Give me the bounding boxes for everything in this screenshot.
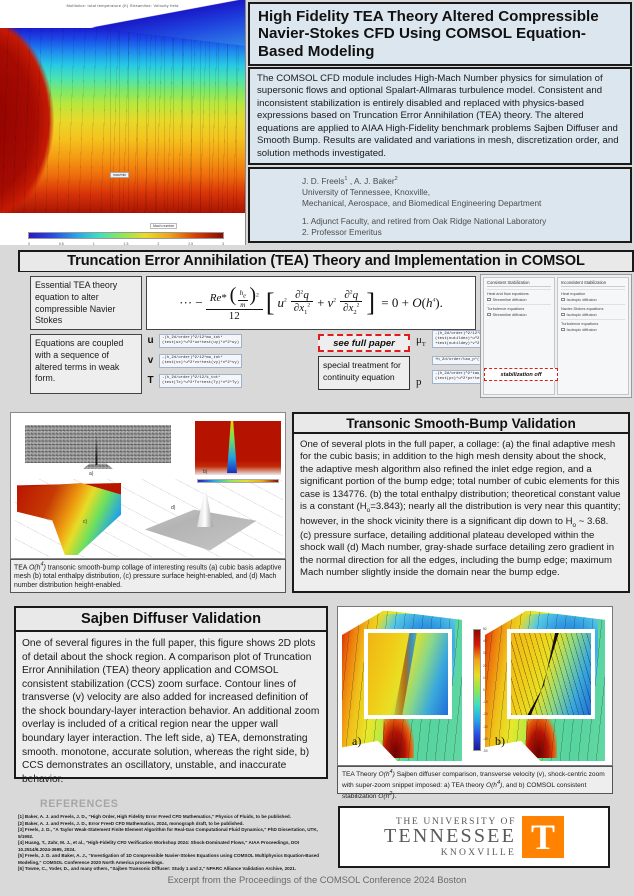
inconsistent-stabilization-column[interactable]: Inconsistent Stabilization Heat equation… xyxy=(557,277,629,395)
checkbox-isotropic-diffusion-heat[interactable]: Isotropic diffusion xyxy=(561,297,625,302)
affiliation-line-2: Mechanical, Aerospace, and Biomedical En… xyxy=(302,198,620,209)
stabilization-off-callout: stabilization off xyxy=(484,368,558,381)
checkbox-label: Isotropic diffusion xyxy=(567,312,597,317)
checkbox-icon[interactable] xyxy=(487,298,491,302)
weak-row-code: -(h_2d/order)^2/12*mu_tot* (test(ux)*u^2… xyxy=(159,334,242,348)
reference-item: [5] Freels, J. D. and Baker, A. J., "Inv… xyxy=(18,853,330,866)
sajben-b-oscillation-lines xyxy=(511,633,592,715)
checkbox-icon[interactable] xyxy=(487,313,491,317)
cfd-vertical-lines xyxy=(110,30,246,210)
poster-title-panel: High Fidelity TEA Theory Altered Compres… xyxy=(248,2,632,66)
sajben-a-smooth-shock xyxy=(390,633,427,715)
cfd-tick: 2 xyxy=(157,242,159,245)
bump-subfigure-label-a: a) xyxy=(89,471,93,477)
tea-text-box-2: Equations are coupled with a sequence of… xyxy=(30,334,142,394)
authors-panel: J. D. Freels1 , A. J. Baker2 University … xyxy=(248,167,632,243)
cfd-colorbar-ticks: 0 0.5 1 1.5 2 2.5 3 xyxy=(28,242,224,245)
footnote-2: 2. Professor Emeritus xyxy=(302,227,620,238)
bump-enthalpy-image xyxy=(195,421,281,475)
affiliation-line-1: University of Tennessee, Knoxville, xyxy=(302,187,620,198)
references-list: [1] Baker, A. J. and Freels, J. D., "Hig… xyxy=(18,814,330,873)
page-title: High Fidelity TEA Theory Altered Compres… xyxy=(258,8,622,61)
cfd-tick: 2.5 xyxy=(188,242,193,245)
university-logo: THE UNIVERSITY OF TENNESSEE KNOXVILLE T xyxy=(338,806,610,868)
caption-part: TEA xyxy=(14,564,29,571)
reference-item: [6] Towne, C., Yoder, D., and many other… xyxy=(18,866,330,873)
continuity-note-box: special treatment for continuity equatio… xyxy=(318,356,410,390)
checkbox-label: Streamline diffusion xyxy=(493,312,527,317)
authors-line: J. D. Freels1 , A. J. Baker2 xyxy=(302,176,620,187)
poster-footer: Excerpt from the Proceedings of the COMS… xyxy=(0,874,634,885)
sajben-panel-a-label: a) xyxy=(352,734,361,749)
weak-row-label: u xyxy=(146,335,155,346)
sajben-panel-b: b) xyxy=(485,611,605,761)
saj-cap-part: TEA Theory xyxy=(342,771,379,778)
saj-cap-line-3-pre: a) TEA theory xyxy=(444,782,486,789)
bump-subfigure-label-b: b) xyxy=(203,469,207,475)
see-full-paper-callout: see full paper xyxy=(318,334,410,352)
spacer xyxy=(302,209,620,216)
logo-line-2: TENNESSEE xyxy=(384,827,516,847)
sajben-colorbar xyxy=(473,629,481,751)
sajben-tick: -30 xyxy=(483,725,488,729)
bump-pressure-peak xyxy=(17,483,121,555)
cfd-inline-label: max/min xyxy=(110,172,129,178)
tea-equation: ··· − Re* (hem)2 12 [ u2 ∂2q∂x12 + v2 ∂2… xyxy=(179,284,443,321)
sajben-tick: -50 xyxy=(483,749,488,753)
footnote-1: 1. Adjunct Faculty, and retired from Oak… xyxy=(302,216,620,227)
weak-row-label: T xyxy=(146,375,155,386)
sajben-figure-caption: TEA Theory O(h4) Sajben diffuser compari… xyxy=(337,766,613,794)
bump-adaptive-mesh-image xyxy=(25,425,171,469)
cfd-tick: 3 xyxy=(222,242,224,245)
sajben-tick: 0 xyxy=(483,688,488,692)
ui-group-label: Navier-Stokes equations xyxy=(561,304,625,311)
checkbox-streamline-diffusion-flow[interactable]: Streamline diffusion xyxy=(487,297,551,302)
cfd-tick: 1 xyxy=(93,242,95,245)
references-heading: REFERENCES xyxy=(40,798,330,810)
cfd-tick: 0 xyxy=(28,242,30,245)
ui-group-label: Heat and flow equations xyxy=(487,289,551,296)
consistent-stabilization-title: Consistent Stabilization xyxy=(487,280,551,287)
saj-cap-order: O(h xyxy=(379,771,390,778)
checkbox-isotropic-diffusion-turb[interactable]: Isotropic diffusion xyxy=(561,327,625,332)
equation-fraction: Re* (hem)2 12 xyxy=(206,284,263,321)
references-section: REFERENCES [1] Baker, A. J. and Freels, … xyxy=(18,798,330,873)
ui-group-label: Turbulence equations xyxy=(487,304,551,311)
cfd-colorbar xyxy=(28,232,224,239)
sajben-a-zoom-field xyxy=(368,633,449,715)
bump-subfigure-label-c: c) xyxy=(83,519,87,525)
sajben-colorbar-ticks: 50 40 30 20 10 0 -10 -20 -30 -40 -50 xyxy=(483,627,488,753)
ui-group-label: Heat equation xyxy=(561,289,625,296)
saj-cap-rest: Sajben diffuser comparison, transverse v… xyxy=(395,771,546,778)
power-t-icon: T xyxy=(522,816,564,858)
checkbox-streamline-diffusion-turb[interactable]: Streamline diffusion xyxy=(487,312,551,317)
author-2-sup: 2 xyxy=(395,176,398,182)
caption-order: O(h xyxy=(29,564,41,571)
sajben-tick: 20 xyxy=(483,664,488,668)
bump-section-body: One of several plots in the full paper, … xyxy=(292,433,630,593)
weak-row-code: -(h_2d/order)^2/12/k_tot* (test(Tx)*u^2*… xyxy=(159,374,242,388)
sajben-section-heading: Sajben Diffuser Validation xyxy=(14,606,328,632)
checkbox-icon[interactable] xyxy=(561,328,565,332)
sajben-tick: 40 xyxy=(483,639,488,643)
weak-form-row-u: u -(h_2d/order)^2/12*mu_tot* (test(ux)*u… xyxy=(146,334,242,348)
sajben-b-zoom-inset xyxy=(507,629,596,719)
sajben-tick: 30 xyxy=(483,651,488,655)
author-2: , A. J. Baker xyxy=(348,176,395,186)
cfd-tick: 0.5 xyxy=(59,242,64,245)
reference-item: [3] Freels, J. D., "A Taylor Weak-Statem… xyxy=(18,827,330,840)
bump-subfigure-label-d: d) xyxy=(171,505,175,511)
checkbox-isotropic-diffusion-ns[interactable]: Isotropic diffusion xyxy=(561,312,625,317)
bump-pressure-surface-image xyxy=(17,483,121,555)
caption-rest: transonic smooth-bump collage of interes… xyxy=(14,564,281,589)
checkbox-icon[interactable] xyxy=(561,298,565,302)
p-symbol: p xyxy=(416,376,422,388)
sajben-tick: 10 xyxy=(483,676,488,680)
cfd-colorbar-label: Mach number xyxy=(150,223,177,229)
tea-equation-box: ··· − Re* (hem)2 12 [ u2 ∂2q∂x12 + v2 ∂2… xyxy=(146,276,476,330)
checkbox-label: Isotropic diffusion xyxy=(567,327,597,332)
bump-section-heading: Transonic Smooth-Bump Validation xyxy=(292,412,630,434)
checkbox-label: Streamline diffusion xyxy=(493,297,527,302)
sajben-b-zoom-field xyxy=(511,633,592,715)
smooth-bump-collage-figure: a) b) c) d) xyxy=(10,412,286,559)
author-1: J. D. Freels xyxy=(302,176,344,186)
checkbox-label: Isotropic diffusion xyxy=(567,297,597,302)
tea-section-body: Essential TEA theory equation to alter c… xyxy=(18,272,634,400)
logo-line-3: KNOXVILLE xyxy=(384,847,516,858)
sajben-a-zoom-inset xyxy=(364,629,453,719)
mu-t-symbol: μT xyxy=(416,334,426,348)
tea-section-heading: Truncation Error Annihilation (TEA) Theo… xyxy=(18,250,634,272)
sajben-tick: -10 xyxy=(483,700,488,704)
smooth-bump-figure-caption: TEA O(h4) transonic smooth-bump collage … xyxy=(10,559,286,593)
sajben-section-body: One of several figures in the full paper… xyxy=(14,631,328,779)
reference-item: [1] Baker, A. J. and Freels, J. D., "Hig… xyxy=(18,814,330,821)
cfd-tick: 1.5 xyxy=(124,242,129,245)
cfd-contour-figure: Multislice: total temperature (K) Stream… xyxy=(0,0,246,245)
sajben-panel-a: a) xyxy=(342,611,462,761)
university-wordmark: THE UNIVERSITY OF TENNESSEE KNOXVILLE xyxy=(384,816,516,858)
sajben-tick: -20 xyxy=(483,712,488,716)
sajben-tick: -40 xyxy=(483,737,488,741)
weak-row-label: v xyxy=(146,355,155,366)
reference-item: [4] Huang, T., Zahr, M. J., et al., "Hig… xyxy=(18,840,330,853)
checkbox-icon[interactable] xyxy=(561,313,565,317)
weak-row-code: -(h_2d/order)^2/12*mu_tot* (test(vx)*u^2… xyxy=(159,354,242,368)
weak-form-row-t: T -(h_2d/order)^2/12/k_tot* (test(Tx)*u^… xyxy=(146,374,242,388)
saj-cap-order-3: O(h xyxy=(378,793,389,800)
inconsistent-stabilization-title: Inconsistent Stabilization xyxy=(561,280,625,287)
tea-section: Truncation Error Annihilation (TEA) Theo… xyxy=(18,250,634,406)
saj-cap-line-3-end: . xyxy=(395,793,397,800)
poster-root: Multislice: total temperature (K) Stream… xyxy=(0,0,634,896)
sajben-panel-b-label: b) xyxy=(495,734,505,749)
abstract-panel: The COMSOL CFD module includes High-Mach… xyxy=(248,67,632,165)
sajben-comparison-figure: a) b) 50 40 30 20 10 0 xyxy=(337,606,613,766)
cfd-plot-title: Multislice: total temperature (K) Stream… xyxy=(0,3,245,8)
ui-group-label: Turbulence equations xyxy=(561,319,625,326)
saj-cap-order-2: O(h xyxy=(486,782,497,789)
abstract-text: The COMSOL CFD module includes High-Mach… xyxy=(257,73,623,160)
bump-shock-line xyxy=(95,435,98,465)
sajben-tick: 50 xyxy=(483,627,488,631)
bump-enthalpy-colorbar xyxy=(197,479,279,483)
weak-form-row-v: v -(h_2d/order)^2/12*mu_tot* (test(vx)*u… xyxy=(146,354,242,368)
tea-text-box-1: Essential TEA theory equation to alter c… xyxy=(30,276,142,330)
